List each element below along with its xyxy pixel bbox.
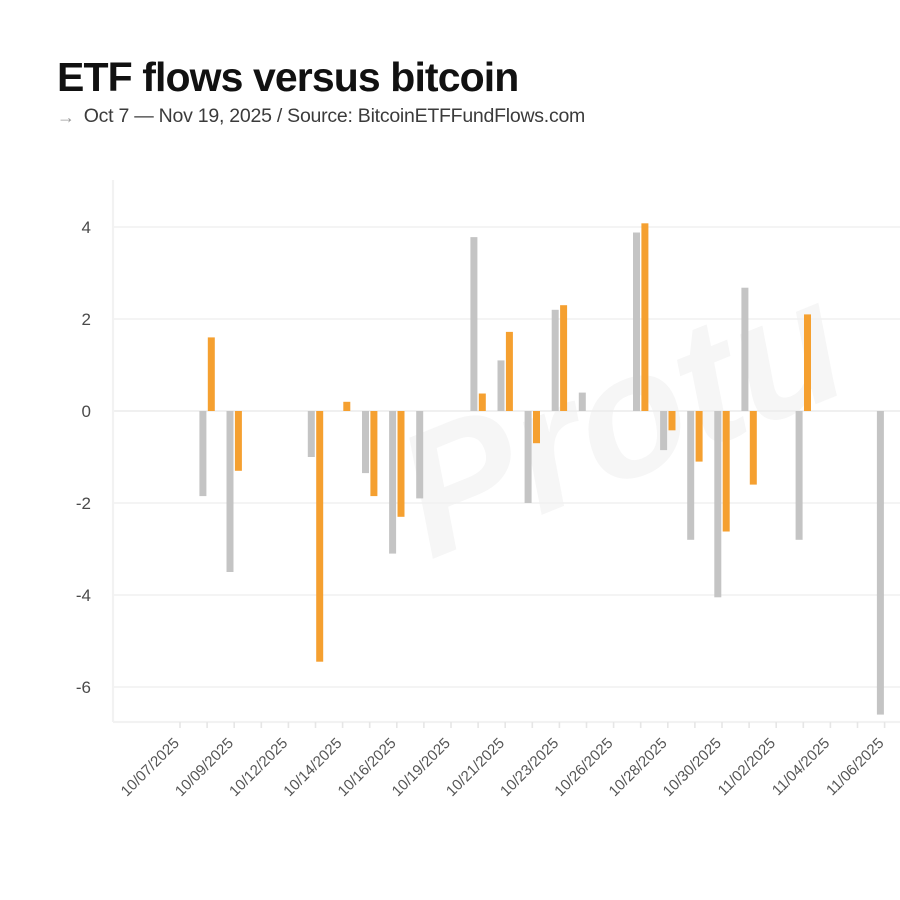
y-axis-tick-label: -2 [76,494,91,513]
bar-gray [714,411,721,597]
bar-orange [696,411,703,462]
bar-orange [669,411,676,430]
bar-gray [199,411,206,496]
bar-gray [389,411,396,554]
bar-gray [633,233,640,411]
x-axis-tick-label: 10/30/2025 [660,735,725,800]
watermark: Protu [371,241,870,595]
bar-orange [533,411,540,443]
bar-orange [343,402,350,411]
bar-orange [208,337,215,411]
bar-gray [470,237,477,411]
bar-gray [498,360,505,411]
x-axis-tick-labels: 10/07/202510/09/202510/12/202510/14/2025… [118,722,888,800]
bar-gray [741,288,748,411]
bar-orange [370,411,377,496]
bar-orange [506,332,513,411]
y-axis-tick-label: -4 [76,586,91,605]
y-axis-tick-label: 4 [82,218,91,237]
bar-gray [687,411,694,540]
watermark-text: Protu [371,241,870,595]
bar-orange [804,314,811,411]
bar-orange [723,411,730,532]
bar-orange [398,411,405,517]
bar-orange [641,223,648,411]
bar-orange [479,394,486,411]
y-axis-tick-label: 0 [82,402,91,421]
bar-gray [362,411,369,473]
bar-orange [750,411,757,485]
x-axis-tick-label: 11/04/2025 [769,735,833,799]
bar-gray [227,411,234,572]
bar-gray [525,411,532,503]
bar-orange [316,411,323,662]
chart-plot-area: Protu 420-2-4-6 10/07/202510/09/202510/1… [0,0,900,900]
y-axis-tick-label: -6 [76,678,91,697]
y-axis-tick-label: 2 [82,310,91,329]
bar-orange [235,411,242,471]
x-axis-tick-label: 11/06/2025 [823,735,887,799]
bar-gray [877,411,884,715]
bar-orange [560,305,567,411]
bar-gray [416,411,423,498]
x-axis-tick-label: 11/02/2025 [715,735,779,799]
bar-chart-svg: Protu 420-2-4-6 10/07/202510/09/202510/1… [0,0,900,900]
bar-gray [579,393,586,411]
bar-gray [552,310,559,411]
chart-page: ETF flows versus bitcoin → Oct 7 — Nov 1… [0,0,900,900]
bar-gray [308,411,315,457]
bar-gray [796,411,803,540]
y-axis-tick-labels: 420-2-4-6 [76,218,91,697]
bar-gray [660,411,667,450]
